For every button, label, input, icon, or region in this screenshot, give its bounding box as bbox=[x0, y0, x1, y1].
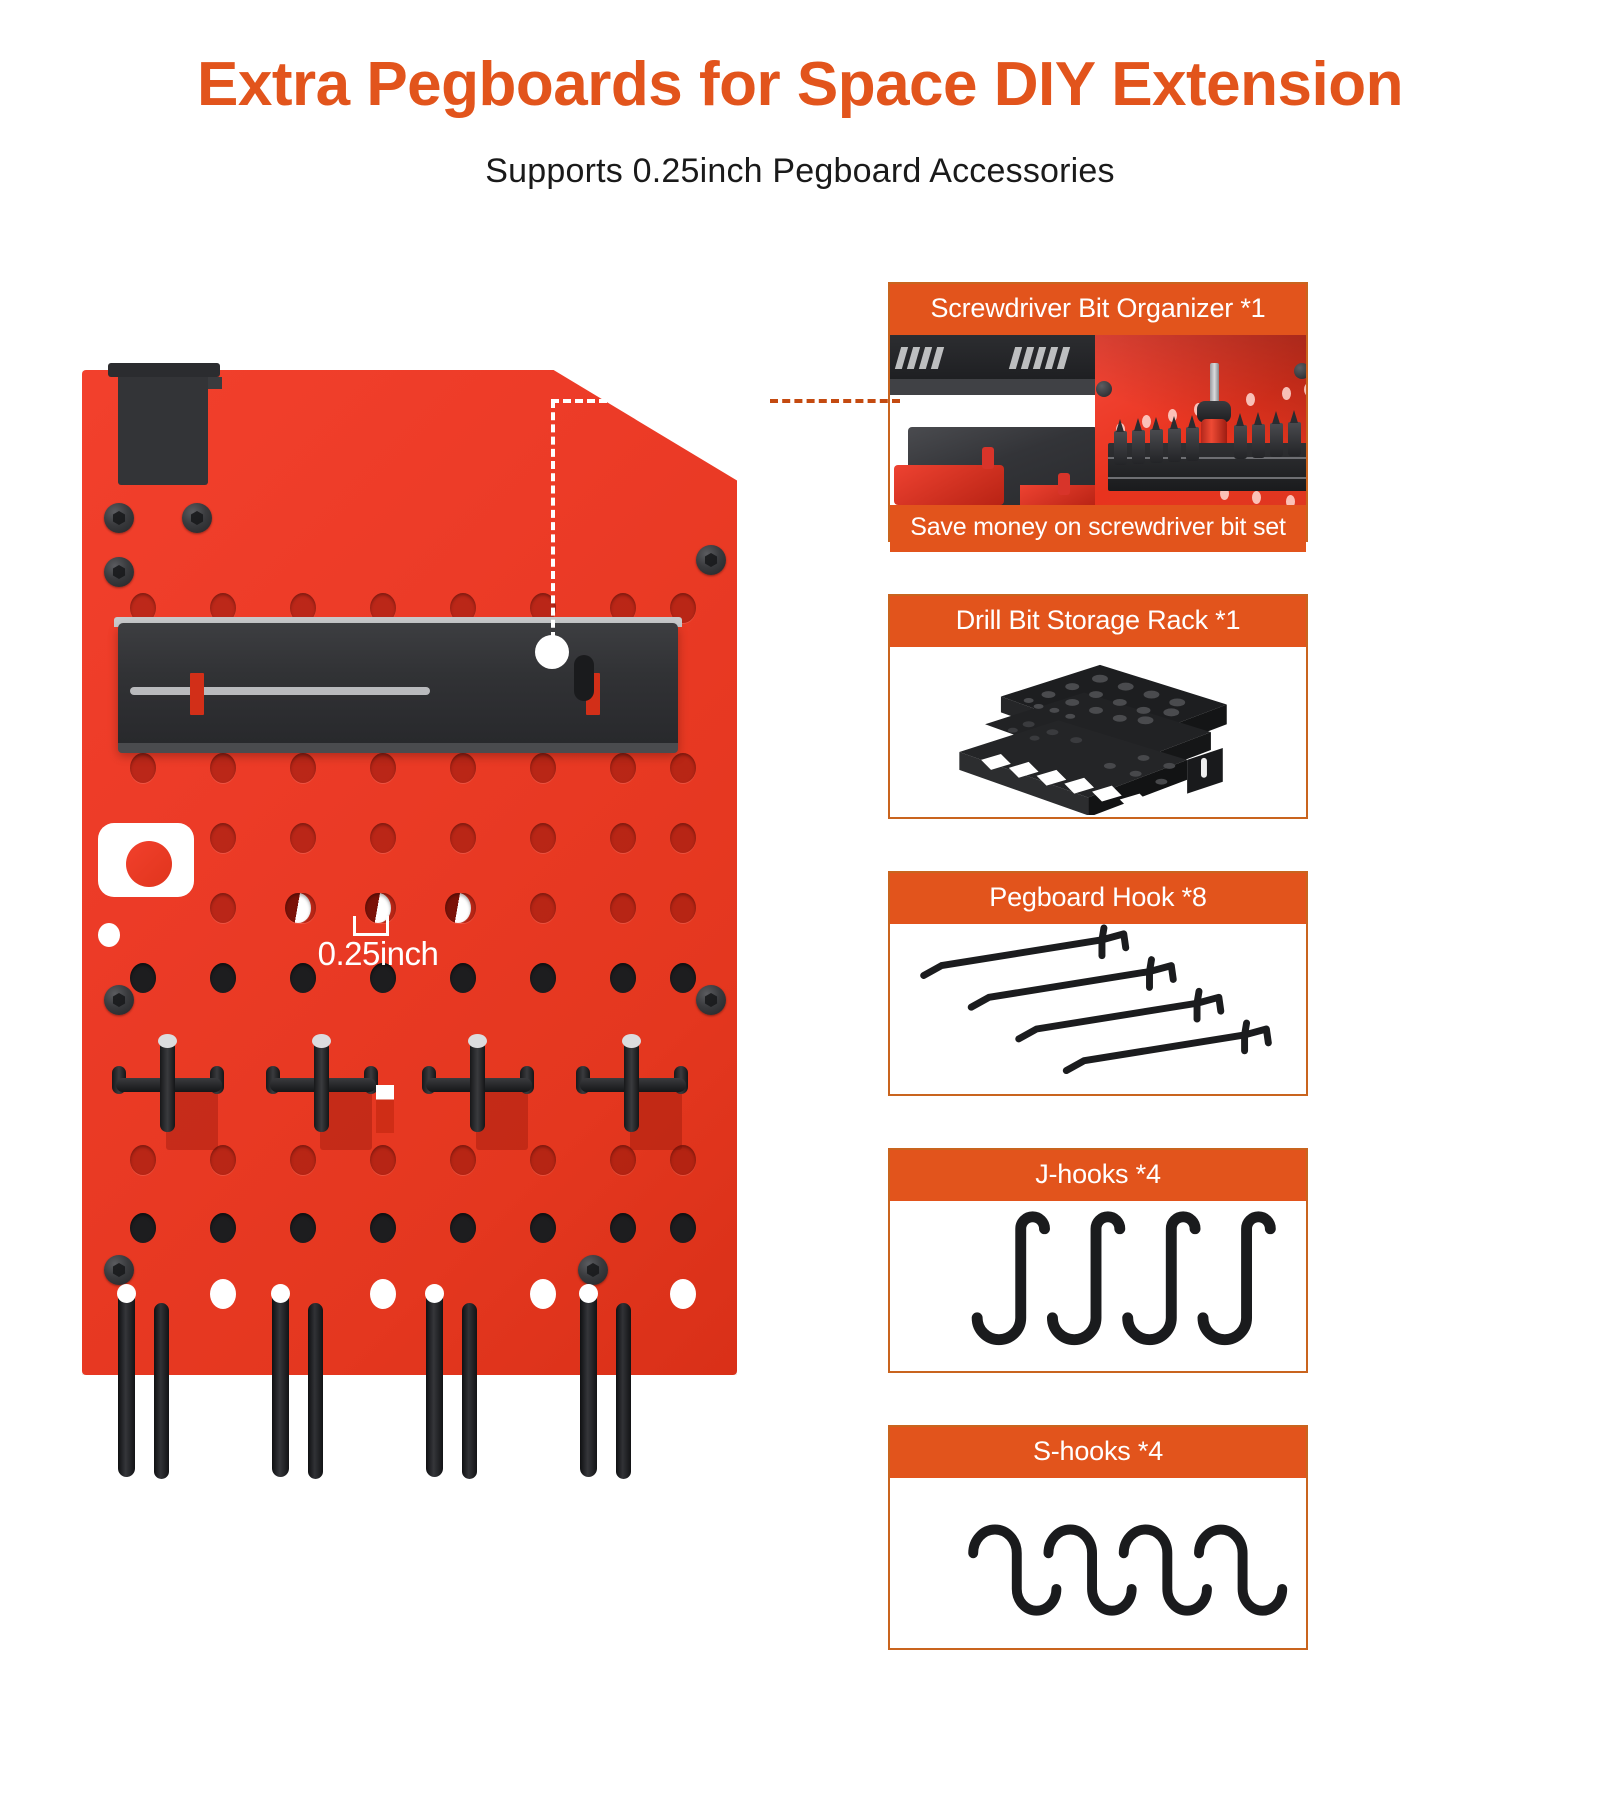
peg-hole bbox=[210, 1213, 236, 1243]
hex-bolt-icon bbox=[1096, 381, 1112, 397]
driver-bit bbox=[1150, 429, 1163, 463]
peg-hole-highlighted bbox=[285, 893, 311, 923]
hex-bolt-icon bbox=[696, 545, 726, 575]
card-screwdriver-bit-organizer[interactable]: Screwdriver Bit Organizer *1 bbox=[888, 282, 1308, 542]
pegboard-illustration: 0.25inch bbox=[70, 355, 770, 1755]
driver-bit bbox=[1114, 431, 1127, 465]
card-footer-caption: Save money on screwdriver bit set bbox=[890, 505, 1306, 552]
card-title: Drill Bit Storage Rack *1 bbox=[890, 596, 1306, 647]
card-title: Pegboard Hook *8 bbox=[890, 873, 1306, 924]
bit-rail-bottom-edge bbox=[118, 743, 678, 753]
peg-hole bbox=[370, 753, 396, 783]
peg-hole bbox=[670, 823, 696, 853]
peg-hole bbox=[130, 963, 156, 993]
bit-rail-slot bbox=[574, 655, 594, 701]
peg-hole bbox=[530, 1213, 556, 1243]
shelf-edge bbox=[890, 379, 1102, 395]
t-hook bbox=[262, 1030, 382, 1140]
peg-hole bbox=[370, 1279, 396, 1309]
peg-hole bbox=[530, 893, 556, 923]
card-s-hooks[interactable]: S-hooks *4 bbox=[888, 1425, 1308, 1650]
peg-hole-highlighted bbox=[98, 923, 120, 947]
card-j-hooks[interactable]: J-hooks *4 bbox=[888, 1148, 1308, 1373]
card-drill-bit-storage-rack[interactable]: Drill Bit Storage Rack *1 bbox=[888, 594, 1308, 819]
peg-hole bbox=[610, 753, 636, 783]
peg-hole bbox=[530, 1145, 556, 1175]
peg-hole bbox=[530, 1279, 556, 1309]
peg-hole bbox=[530, 963, 556, 993]
s-hook-icon bbox=[890, 1478, 1306, 1646]
tool-grip bbox=[982, 447, 994, 469]
mount-bracket-notch bbox=[208, 377, 222, 389]
driver-bit bbox=[1252, 424, 1265, 458]
peg-hole bbox=[130, 1145, 156, 1175]
driver-bit bbox=[1270, 423, 1283, 457]
long-peg-hook bbox=[272, 1287, 332, 1517]
peg-hole bbox=[450, 823, 476, 853]
peg-hole bbox=[210, 753, 236, 783]
t-hook bbox=[572, 1030, 692, 1140]
peg-hole bbox=[290, 1145, 316, 1175]
peg-hole bbox=[610, 823, 636, 853]
card-image-drill-bit-storage-rack bbox=[890, 647, 1306, 817]
callout-leader-vertical bbox=[551, 400, 555, 640]
peg-hole bbox=[370, 823, 396, 853]
j-hook-icon bbox=[890, 1201, 1306, 1369]
hole-size-label: 0.25inch bbox=[288, 935, 468, 973]
driver-bit bbox=[1288, 422, 1301, 456]
hex-bolt-icon bbox=[696, 985, 726, 1015]
peg-hole bbox=[610, 1213, 636, 1243]
bit-rail-groove bbox=[130, 687, 430, 695]
hex-bolt-icon bbox=[104, 557, 134, 587]
page-title: Extra Pegboards for Space DIY Extension bbox=[0, 52, 1600, 117]
peg-hole bbox=[670, 753, 696, 783]
accessory-card-list: Screwdriver Bit Organizer *1 bbox=[888, 282, 1518, 1678]
driver-bit bbox=[1234, 425, 1247, 459]
peg-hole-highlighted bbox=[445, 893, 471, 923]
bit-rail-tab bbox=[190, 673, 204, 715]
product-photo bbox=[890, 335, 1306, 505]
t-hook bbox=[418, 1030, 538, 1140]
peg-hole bbox=[530, 753, 556, 783]
card-image-j-hooks bbox=[890, 1201, 1306, 1371]
peg-hole bbox=[290, 753, 316, 783]
hex-bolt-icon bbox=[182, 503, 212, 533]
peg-hole bbox=[290, 1213, 316, 1243]
driver-bit bbox=[1168, 428, 1181, 462]
peg-hole bbox=[130, 1213, 156, 1243]
keyhole-cutout-inner bbox=[126, 841, 172, 887]
peg-hole bbox=[370, 1145, 396, 1175]
peg-hole bbox=[450, 1213, 476, 1243]
peg-hole bbox=[670, 1213, 696, 1243]
driver-bit bbox=[1132, 430, 1145, 464]
hex-bolt-icon bbox=[578, 1255, 608, 1285]
pegboard-hook-icon bbox=[890, 924, 1306, 1092]
peg-hole bbox=[530, 823, 556, 853]
peg-hole bbox=[210, 963, 236, 993]
peg-hole bbox=[210, 1279, 236, 1309]
long-peg-hook bbox=[580, 1287, 640, 1517]
peg-hole bbox=[370, 1213, 396, 1243]
card-title: Screwdriver Bit Organizer *1 bbox=[890, 284, 1306, 335]
peg-hole bbox=[670, 963, 696, 993]
mount-bracket bbox=[118, 377, 208, 485]
tool-grip bbox=[1058, 473, 1070, 495]
peg-hole bbox=[670, 1279, 696, 1309]
callout-dot-icon bbox=[535, 635, 569, 669]
screwdriver-shaft bbox=[1210, 363, 1219, 405]
peg-marker bbox=[376, 1085, 394, 1133]
card-pegboard-hook[interactable]: Pegboard Hook *8 bbox=[888, 871, 1308, 1096]
hole-size-caliper-icon bbox=[353, 916, 389, 936]
long-peg-hook bbox=[426, 1287, 486, 1517]
peg-hole bbox=[450, 753, 476, 783]
page-subtitle: Supports 0.25inch Pegboard Accessories bbox=[0, 152, 1600, 191]
callout-leader-orange bbox=[770, 399, 900, 403]
hex-bolt-icon bbox=[104, 1255, 134, 1285]
hex-bolt-icon bbox=[104, 503, 134, 533]
infographic-page: Extra Pegboards for Space DIY Extension … bbox=[0, 0, 1600, 1800]
peg-hole bbox=[610, 893, 636, 923]
drill-bit-rack-icon bbox=[890, 647, 1306, 815]
card-title: J-hooks *4 bbox=[890, 1150, 1306, 1201]
card-image-s-hooks bbox=[890, 1478, 1306, 1648]
peg-hole bbox=[210, 823, 236, 853]
hex-bolt-icon bbox=[104, 985, 134, 1015]
hex-bolt-icon bbox=[1294, 363, 1306, 379]
card-image-pegboard-hook bbox=[890, 924, 1306, 1094]
mount-bracket-cap bbox=[108, 363, 220, 377]
peg-hole bbox=[610, 963, 636, 993]
peg-hole bbox=[290, 823, 316, 853]
vent-ribs-icon bbox=[894, 347, 1094, 373]
card-image-screwdriver-bit-organizer bbox=[890, 335, 1306, 505]
peg-hole bbox=[210, 893, 236, 923]
driver-bit bbox=[1186, 427, 1199, 461]
peg-hole bbox=[450, 1145, 476, 1175]
power-tool-red-shell bbox=[894, 465, 1004, 505]
peg-hole bbox=[670, 893, 696, 923]
card-title: S-hooks *4 bbox=[890, 1427, 1306, 1478]
t-hook bbox=[108, 1030, 228, 1140]
long-peg-hook bbox=[118, 1287, 178, 1517]
peg-hole bbox=[130, 753, 156, 783]
